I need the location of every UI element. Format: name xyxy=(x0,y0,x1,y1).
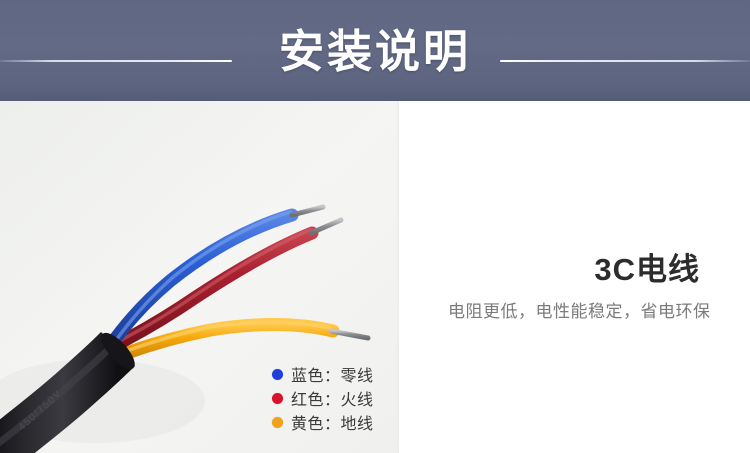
list-item: 黄色：地线 xyxy=(272,410,422,434)
list-item: 红色：火线 xyxy=(272,386,422,410)
product-title: 3C电线 xyxy=(410,251,700,289)
wire-color-legend: 蓝色：零线 红色：火线 黄色：地线 xyxy=(272,362,422,434)
legend-label-yellow: 黄色：地线 xyxy=(291,410,374,434)
product-info: 3C电线 电阻更低，电性能稳定，省电环保 xyxy=(410,101,750,453)
page-title: 安装说明 xyxy=(0,23,750,81)
list-item: 蓝色：零线 xyxy=(272,362,422,386)
product-description: 电阻更低，电性能稳定，省电环保 xyxy=(448,299,748,324)
page-header: 安装说明 xyxy=(0,0,750,101)
legend-dot-red xyxy=(272,393,283,404)
legend-label-red: 红色：火线 xyxy=(291,386,374,410)
legend-label-blue: 蓝色：零线 xyxy=(291,362,374,386)
legend-dot-yellow xyxy=(272,417,283,428)
legend-dot-blue xyxy=(272,369,283,380)
